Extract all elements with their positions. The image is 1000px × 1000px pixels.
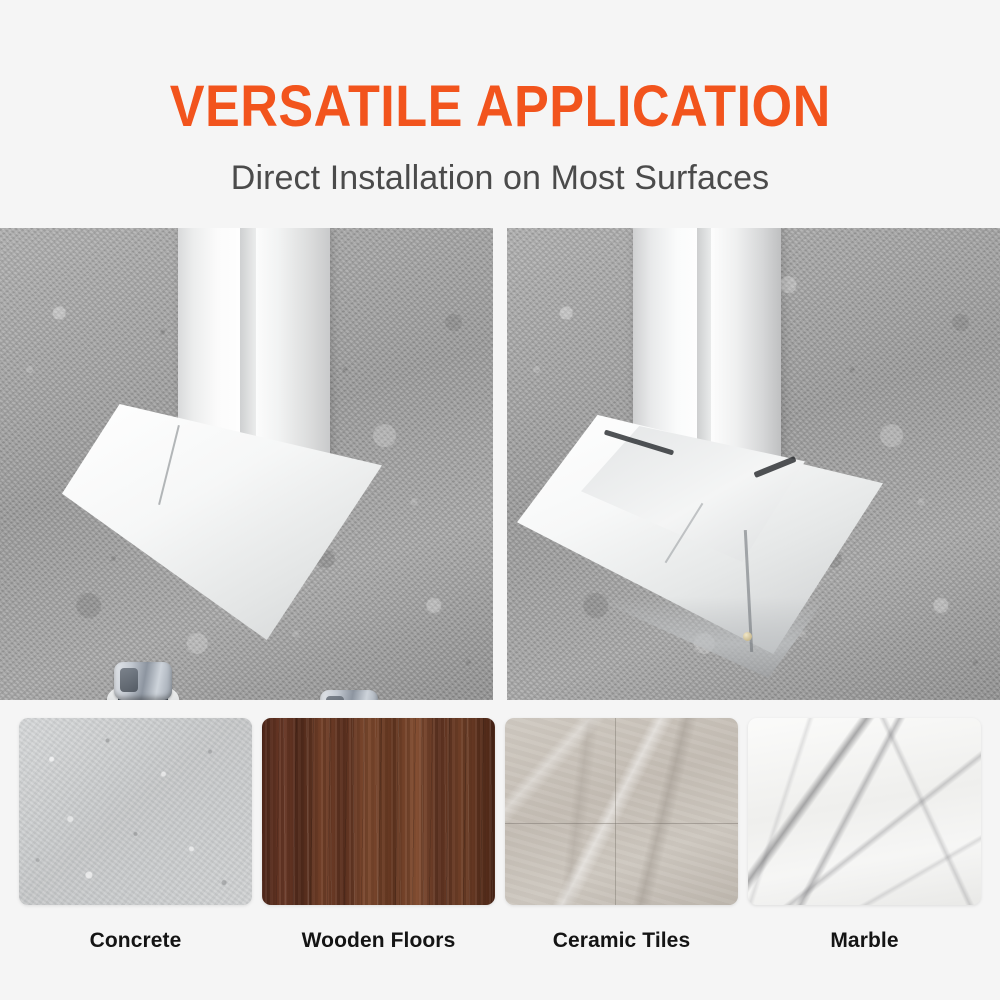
surface-label: Wooden Floors <box>262 929 495 953</box>
anchor-bolt <box>112 664 174 700</box>
bolt-hex-head <box>320 690 378 700</box>
surface-swatch-concrete: Concrete <box>19 718 252 1000</box>
page-subtitle: Direct Installation on Most Surfaces <box>231 159 769 198</box>
marble-swatch-image <box>748 718 981 905</box>
photo-divider <box>493 228 507 700</box>
surface-label: Concrete <box>19 929 252 953</box>
page-title: VERSATILE APPLICATION <box>169 78 830 136</box>
wood-swatch-image <box>262 718 495 905</box>
surface-swatch-wooden-floors: Wooden Floors <box>262 718 495 1000</box>
anchor-bolt <box>318 692 380 700</box>
photo-post-base-bolted <box>0 228 493 700</box>
photo-post-base-cover <box>507 228 1000 700</box>
product-photo-strip <box>0 228 1000 700</box>
base-cover-screw <box>743 632 752 641</box>
surface-swatch-row: Concrete Wooden Floors Ceramic Tiles Mar… <box>0 700 1000 1000</box>
bolt-hex-head <box>114 662 172 700</box>
concrete-swatch-image <box>19 718 252 905</box>
surface-swatch-marble: Marble <box>748 718 981 1000</box>
surface-label: Marble <box>748 929 981 953</box>
surface-label: Ceramic Tiles <box>505 929 738 953</box>
header-banner: VERSATILE APPLICATION Direct Installatio… <box>0 0 1000 228</box>
tile-swatch-image <box>505 718 738 905</box>
surface-swatch-ceramic-tiles: Ceramic Tiles <box>505 718 738 1000</box>
